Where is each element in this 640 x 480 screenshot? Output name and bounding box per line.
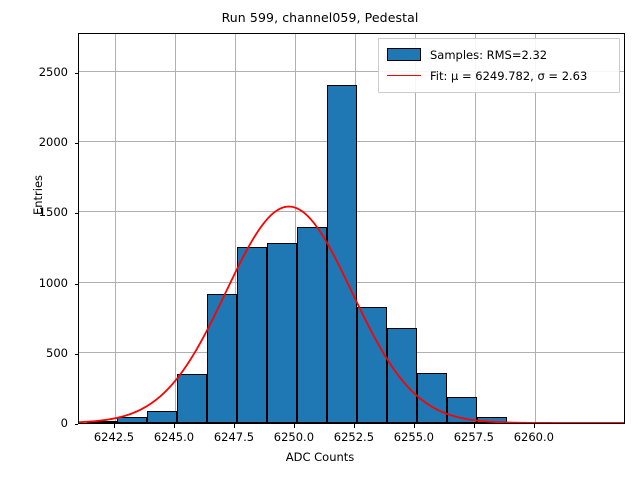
legend-patch-icon [387,48,421,61]
y-axis-label: Entries [31,135,45,255]
x-tick-mark [354,424,355,428]
x-tick-mark [114,424,115,428]
x-axis-label: ADC Counts [0,450,640,464]
y-tick-label: 2500 [8,65,68,79]
legend-line-icon [387,75,421,76]
legend: Samples: RMS=2.32 Fit: μ = 6249.782, σ =… [378,38,620,93]
legend-item-samples: Samples: RMS=2.32 [387,44,611,65]
x-tick-label: 6260.0 [499,430,569,444]
y-tick-mark [75,143,79,144]
y-tick-label: 1000 [8,276,68,290]
x-tick-mark [234,424,235,428]
y-tick-label: 500 [8,346,68,360]
y-tick-mark [75,354,79,355]
legend-item-fit: Fit: μ = 6249.782, σ = 2.63 [387,65,611,86]
y-tick-mark [75,284,79,285]
page-title: Run 599, channel059, Pedestal [0,10,640,25]
x-tick-mark [174,424,175,428]
legend-label-fit: Fit: μ = 6249.782, σ = 2.63 [430,69,587,83]
y-tick-mark [75,424,79,425]
y-tick-mark [75,73,79,74]
y-tick-mark [75,213,79,214]
y-tick-label: 0 [8,416,68,430]
x-tick-mark [294,424,295,428]
legend-label-samples: Samples: RMS=2.32 [430,48,547,62]
x-tick-mark [534,424,535,428]
x-tick-mark [414,424,415,428]
x-tick-mark [474,424,475,428]
chart-figure: Run 599, channel059, Pedestal 6242.56245… [0,0,640,480]
